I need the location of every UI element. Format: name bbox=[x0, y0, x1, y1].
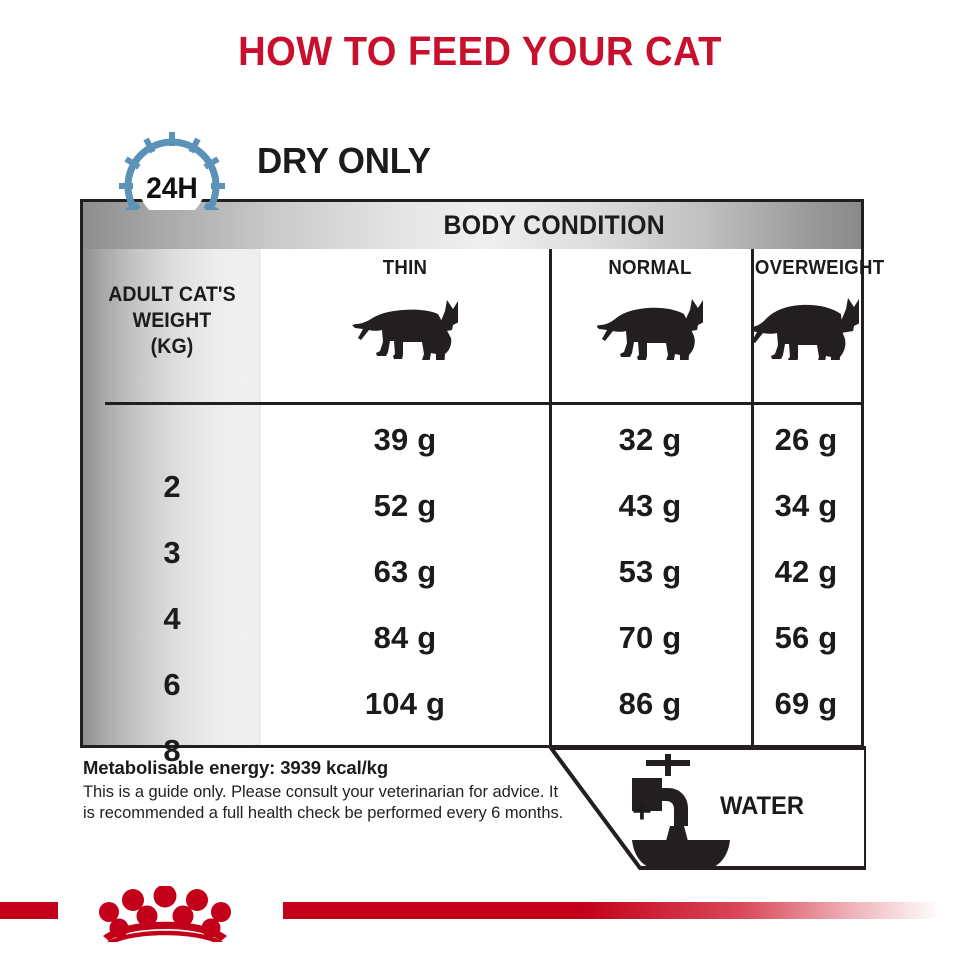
cell-normal: 43 g bbox=[549, 473, 751, 539]
weight-header-line-1: ADULT CAT'S bbox=[89, 282, 255, 308]
feeding-values-grid: 39 g 32 g 26 g 52 g 43 g 34 g 63 g 53 g … bbox=[261, 407, 861, 737]
disclaimer-text: This is a guide only. Please consult you… bbox=[83, 782, 573, 824]
weight-column-header: ADULT CAT'S WEIGHT (KG) bbox=[89, 282, 255, 360]
brand-bar-right bbox=[283, 902, 960, 919]
thin-cat-cell bbox=[261, 294, 549, 364]
cell-thin: 63 g bbox=[261, 539, 549, 605]
cell-normal: 53 g bbox=[549, 539, 751, 605]
cell-thin: 39 g bbox=[261, 407, 549, 473]
cell-overweight: 34 g bbox=[751, 473, 861, 539]
thin-cat-icon bbox=[261, 294, 549, 364]
weight-value: 2 bbox=[83, 454, 261, 520]
feeding-mode-label: DRY ONLY bbox=[257, 140, 431, 182]
weight-column: ADULT CAT'S WEIGHT (KG) 2 3 4 6 8 bbox=[83, 249, 261, 745]
brand-footer bbox=[0, 894, 960, 934]
column-header-thin: THIN bbox=[271, 257, 539, 280]
cell-thin: 84 g bbox=[261, 605, 549, 671]
footer-notes: Metabolisable energy: 3939 kcal/kg This … bbox=[83, 757, 573, 824]
duration-24h-icon: 24H bbox=[113, 126, 231, 210]
header-rule bbox=[105, 402, 861, 405]
weight-value: 3 bbox=[83, 520, 261, 586]
column-header-overweight: OVERWEIGHT bbox=[755, 257, 857, 280]
normal-cat-icon bbox=[549, 294, 751, 364]
cell-normal: 86 g bbox=[549, 671, 751, 737]
weight-value: 4 bbox=[83, 586, 261, 652]
cell-overweight: 42 g bbox=[751, 539, 861, 605]
water-label: WATER bbox=[720, 792, 804, 821]
svg-text:24H: 24H bbox=[146, 172, 198, 205]
cell-overweight: 26 g bbox=[751, 407, 861, 473]
weight-values: 2 3 4 6 8 bbox=[83, 454, 261, 784]
cell-thin: 52 g bbox=[261, 473, 549, 539]
column-header-normal: NORMAL bbox=[556, 257, 744, 280]
feeding-guide-page: HOW TO FEED YOUR CAT 24H DRY ONLY bbox=[0, 0, 960, 960]
cell-overweight: 69 g bbox=[751, 671, 861, 737]
cell-overweight: 56 g bbox=[751, 605, 861, 671]
table-row: 63 g 53 g 42 g bbox=[261, 539, 861, 605]
cell-normal: 32 g bbox=[549, 407, 751, 473]
table-row: 104 g 86 g 69 g bbox=[261, 671, 861, 737]
table-row: 39 g 32 g 26 g bbox=[261, 407, 861, 473]
weight-value: 6 bbox=[83, 652, 261, 718]
table-row: 84 g 70 g 56 g bbox=[261, 605, 861, 671]
water-callout: + WATER bbox=[548, 746, 866, 870]
feeding-table: BODY CONDITION ADULT CAT'S WEIGHT (KG) 2… bbox=[80, 199, 864, 748]
weight-header-line-3: (KG) bbox=[89, 334, 255, 360]
page-title: HOW TO FEED YOUR CAT bbox=[34, 28, 927, 75]
overweight-cat-cell bbox=[751, 294, 861, 364]
brand-bar-left bbox=[0, 902, 58, 919]
overweight-cat-icon bbox=[751, 294, 861, 364]
body-condition-label: BODY CONDITION bbox=[279, 210, 664, 241]
weight-header-line-2: WEIGHT bbox=[89, 308, 255, 334]
royal-canin-crown-logo bbox=[61, 886, 283, 942]
table-row: 52 g 43 g 34 g bbox=[261, 473, 861, 539]
cell-normal: 70 g bbox=[549, 605, 751, 671]
normal-cat-cell bbox=[549, 294, 751, 364]
plus-sign: + bbox=[632, 794, 652, 828]
metabolisable-energy: Metabolisable energy: 3939 kcal/kg bbox=[83, 757, 573, 779]
cell-thin: 104 g bbox=[261, 671, 549, 737]
